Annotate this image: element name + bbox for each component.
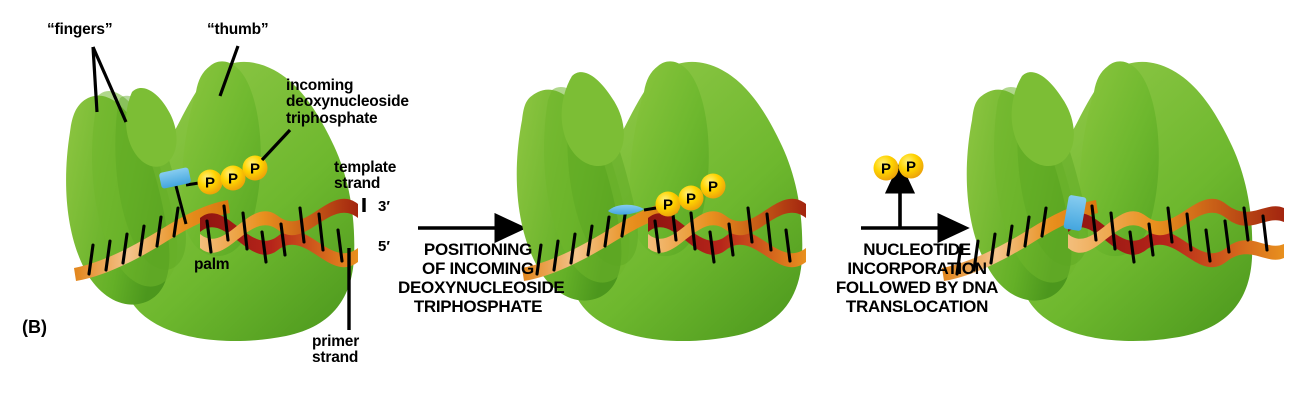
step-2-caption: NUCLEOTIDE INCORPORATION FOLLOWED BY DNA… [833,240,1001,316]
label-palm: palm [194,257,229,273]
phosphate-glyph: P [906,159,916,176]
step-1-caption: POSITIONING OF INCOMING DEOXYNUCLEOSIDE … [398,240,558,316]
phosphate-group-released: P P [874,154,924,181]
phosphate-glyph: P [881,161,891,178]
phosphate-glyph: P [228,171,238,188]
label-incoming-dntp: incoming deoxynucleoside triphosphate [286,78,409,127]
label-template-strand: template strand [334,160,396,193]
phosphate-glyph: P [250,161,260,178]
panel-tag: (B) [22,318,47,337]
label-three-prime: 3′ [378,199,390,215]
nucleotide-phosphate-linker [644,208,656,210]
label-primer-strand: primer strand [312,334,359,367]
panel-2-polymerase-closed: P P P [517,61,806,341]
figure-canvas: P P P [0,0,1294,400]
phosphate-glyph: P [708,179,718,196]
phosphate-glyph: P [686,191,696,208]
label-five-prime: 5′ [378,239,390,255]
phosphate-glyph: P [205,175,215,192]
phosphate-glyph: P [663,197,673,214]
reaction-arrow-2: P P [861,154,941,229]
dna-polymerase-diagram: P P P [0,0,1294,400]
label-thumb: “thumb” [207,22,268,38]
label-fingers: “fingers” [47,22,112,38]
